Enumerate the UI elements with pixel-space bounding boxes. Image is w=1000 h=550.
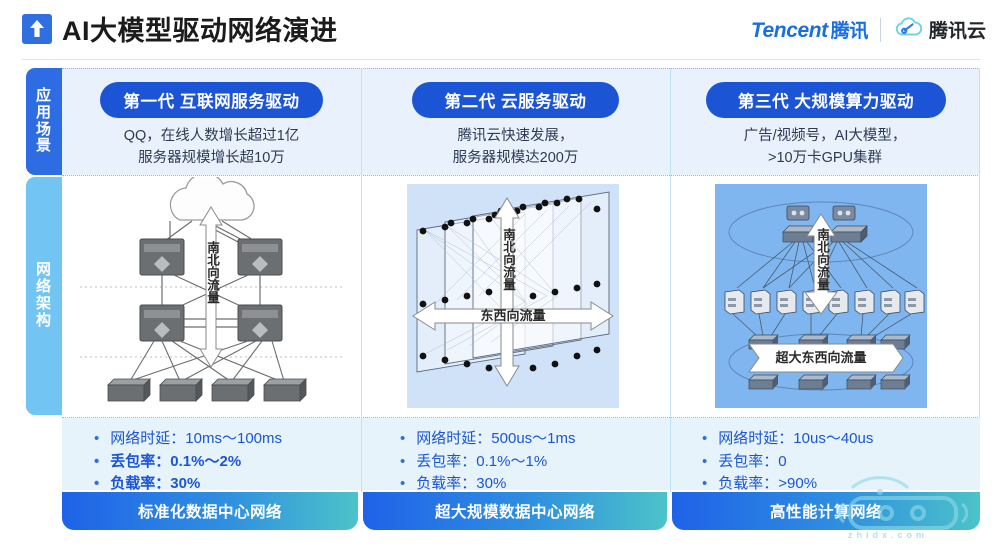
- tencent-cloud-name: 腾讯云: [929, 16, 986, 43]
- tencent-arrow-icon: [22, 14, 52, 44]
- side-label-char: 构: [36, 313, 52, 330]
- metrics-list-1: • 网络时延：10ms～100ms • 丢包率：0.1%～2% • 负载率：30…: [94, 428, 282, 496]
- scenario-cell-3: 第三代 大规模算力驱动 广告/视频号，AI大模型， >10万卡GPU集群: [670, 68, 980, 175]
- metric-label: 网络时延: [718, 428, 778, 451]
- metric-row: • 丢包率：0: [702, 451, 873, 474]
- row-divider-top: [62, 68, 980, 69]
- bullet-icon: •: [94, 451, 99, 474]
- metric-colon: ：: [763, 451, 778, 474]
- row-divider-arch-metrics: [62, 417, 980, 418]
- generation-pill-1[interactable]: 第一代 互联网服务驱动: [100, 82, 323, 118]
- brand-lockup: Tencent腾讯 腾讯云: [751, 16, 986, 43]
- side-label-char: 场: [36, 122, 52, 139]
- metric-row: • 丢包率：0.1%～1%: [400, 451, 576, 474]
- metrics-list-2: • 网络时延：500us～1ms • 丢包率：0.1%～1% • 负载率：30%: [400, 428, 576, 496]
- scenario-desc-line: 广告/视频号，AI大模型，: [670, 126, 980, 148]
- side-label-scenario: 应 用 场 景: [26, 68, 62, 175]
- metric-label: 丢包率: [718, 451, 763, 474]
- metric-colon: ：: [170, 428, 185, 451]
- bullet-icon: •: [702, 428, 707, 451]
- scenario-desc-line: >10万卡GPU集群: [670, 148, 980, 170]
- metric-colon: ：: [778, 428, 793, 451]
- row-divider-scenario-arch: [62, 175, 980, 176]
- row-application-scenario: 第一代 互联网服务驱动 QQ，在线人数增长超过1亿 服务器规模增长超10万 第二…: [62, 68, 980, 175]
- side-label-char: 络: [36, 279, 52, 296]
- side-label-char: 景: [36, 138, 52, 155]
- scenario-desc-3: 广告/视频号，AI大模型， >10万卡GPU集群: [670, 126, 980, 170]
- metric-value: 10ms～100ms: [185, 428, 282, 451]
- grid-right-edge: [979, 68, 980, 418]
- bullet-icon: •: [400, 428, 405, 451]
- generation-pill-2[interactable]: 第二代 云服务驱动: [412, 82, 619, 118]
- tencent-cloud-icon: [893, 16, 923, 43]
- flow-label-east-west-2: 东西向流量: [453, 309, 573, 323]
- bullet-icon: •: [702, 451, 707, 474]
- side-label-char: 架: [36, 296, 52, 313]
- scenario-desc-line: QQ，在线人数增长超过1亿: [62, 126, 361, 148]
- side-label-char: 用: [36, 105, 52, 122]
- side-label-architecture: 网 络 架 构: [26, 177, 62, 415]
- tencent-wordmark-en: Tencent: [751, 19, 828, 42]
- scenario-cell-1: 第一代 互联网服务驱动 QQ，在线人数增长超过1亿 服务器规模增长超10万: [62, 68, 361, 175]
- metric-label: 网络时延: [110, 428, 170, 451]
- row-footer-bars: 标准化数据中心网络 超大规模数据中心网络 高性能计算网络: [62, 492, 980, 530]
- column-divider-1: [361, 68, 362, 492]
- scenario-desc-line: 腾讯云快速发展，: [362, 126, 669, 148]
- metric-row: • 网络时延：10us～40us: [702, 428, 873, 451]
- footer-bar-1[interactable]: 标准化数据中心网络: [62, 492, 358, 530]
- metric-value: 0.1%～2%: [170, 451, 241, 474]
- column-divider-2: [670, 68, 671, 492]
- scenario-desc-1: QQ，在线人数增长超过1亿 服务器规模增长超10万: [62, 126, 361, 170]
- metric-label: 丢包率: [110, 451, 155, 474]
- scenario-cell-2: 第二代 云服务驱动 腾讯云快速发展， 服务器规模达200万: [362, 68, 669, 175]
- bullet-icon: •: [94, 428, 99, 451]
- flow-label-north-south-1: 南北向流量: [204, 241, 218, 304]
- row-network-architecture: 南北向流量: [62, 177, 980, 415]
- slide-header: AI大模型驱动网络演进 Tencent腾讯 腾讯云: [0, 0, 1000, 60]
- metric-row: • 网络时延：10ms～100ms: [94, 428, 282, 451]
- diagram-panel-1: 南北向流量: [62, 177, 361, 415]
- metric-colon: ：: [461, 451, 476, 474]
- tencent-wordmark: Tencent腾讯: [751, 16, 868, 43]
- gpu-cluster-topology-diagram: [715, 184, 927, 408]
- brand-divider: [880, 18, 881, 42]
- clos-fabric-mesh-diagram: [407, 184, 619, 408]
- page-title: AI大模型驱动网络演进: [62, 9, 338, 48]
- metric-label: 丢包率: [416, 451, 461, 474]
- scenario-desc-line: 服务器规模达200万: [362, 148, 669, 170]
- metric-colon: ：: [476, 428, 491, 451]
- flow-label-north-south-3: 南北向流量: [814, 228, 828, 291]
- slide-root: AI大模型驱动网络演进 Tencent腾讯 腾讯云 应 用 场: [0, 0, 1000, 550]
- side-label-char: 网: [36, 262, 52, 279]
- metric-value: 0.1%～1%: [476, 451, 547, 474]
- tencent-cloud-lockup: 腾讯云: [893, 16, 986, 43]
- metric-value: 10us～40us: [793, 428, 873, 451]
- generation-pill-3[interactable]: 第三代 大规模算力驱动: [706, 82, 946, 118]
- bullet-icon: •: [400, 451, 405, 474]
- scenario-desc-line: 服务器规模增长超10万: [62, 148, 361, 170]
- header-divider: [22, 59, 980, 60]
- diagram-panel-2: 南北向流量 东西向流量: [407, 184, 619, 408]
- metrics-list-3: • 网络时延：10us～40us • 丢包率：0 • 负载率：>90%: [702, 428, 873, 496]
- metric-value: 500us～1ms: [491, 428, 575, 451]
- tencent-wordmark-cn: 腾讯: [831, 21, 868, 42]
- metric-value: 0: [778, 451, 786, 474]
- diagram-panel-3: 南北向流量 超大东西向流量: [715, 184, 927, 408]
- flow-label-east-west-3: 超大东西向流量: [761, 351, 881, 365]
- footer-bar-2[interactable]: 超大规模数据中心网络: [363, 492, 667, 530]
- side-label-char: 应: [36, 88, 52, 105]
- metric-label: 网络时延: [416, 428, 476, 451]
- metric-row: • 网络时延：500us～1ms: [400, 428, 576, 451]
- watermark-url: zhidx.com: [848, 530, 928, 540]
- scenario-desc-2: 腾讯云快速发展， 服务器规模达200万: [362, 126, 669, 170]
- metric-row: • 丢包率：0.1%～2%: [94, 451, 282, 474]
- footer-bar-3[interactable]: 高性能计算网络: [672, 492, 980, 530]
- flow-label-north-south-2: 南北向流量: [500, 228, 514, 291]
- metric-colon: ：: [155, 451, 170, 474]
- row-metrics: • 网络时延：10ms～100ms • 丢包率：0.1%～2% • 负载率：30…: [62, 418, 980, 490]
